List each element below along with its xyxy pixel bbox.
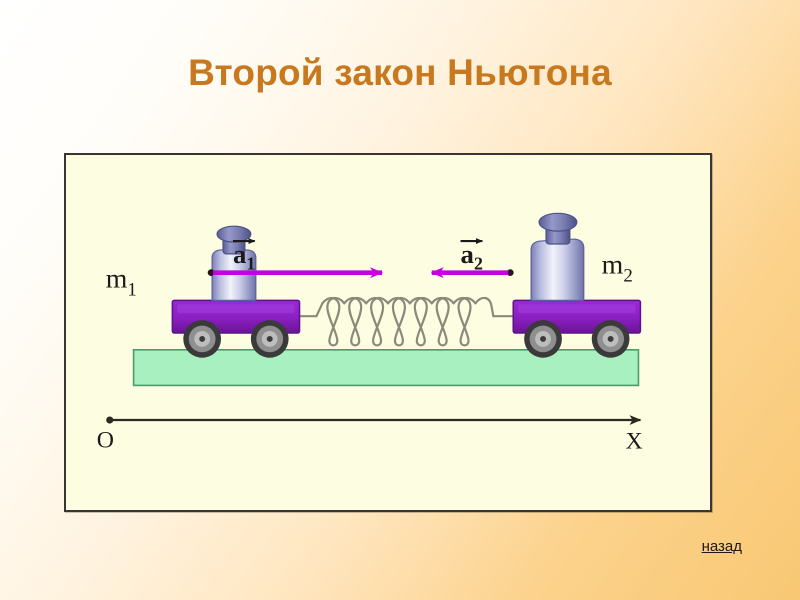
wheel-left-rear: [251, 320, 289, 358]
page-title: Второй закон Ньютона: [0, 52, 800, 94]
physics-diagram-panel: a1 a2 m1 m2 O: [64, 153, 712, 512]
wheel-left-front: [183, 320, 221, 358]
accel-right-label: a2: [461, 239, 483, 274]
acceleration-vector-right: a2: [432, 239, 514, 276]
wheel-right-front: [524, 320, 562, 358]
slide-canvas: Второй закон Ньютона: [0, 0, 800, 600]
acceleration-vector-left: a1: [208, 239, 382, 276]
origin-label: O: [97, 428, 114, 454]
mass-left-label: m1: [106, 264, 137, 301]
spring: [298, 298, 514, 345]
cart-right: [513, 213, 640, 357]
mass-right-label: m2: [602, 250, 633, 287]
x-axis-label: X: [626, 429, 643, 455]
physics-diagram: a1 a2 m1 m2 O: [66, 155, 710, 510]
weight-right: [531, 213, 584, 300]
accel-left-label: a1: [233, 239, 255, 274]
x-axis: O X: [97, 416, 643, 454]
wheel-right-rear: [592, 320, 630, 358]
back-link[interactable]: назад: [702, 538, 742, 555]
